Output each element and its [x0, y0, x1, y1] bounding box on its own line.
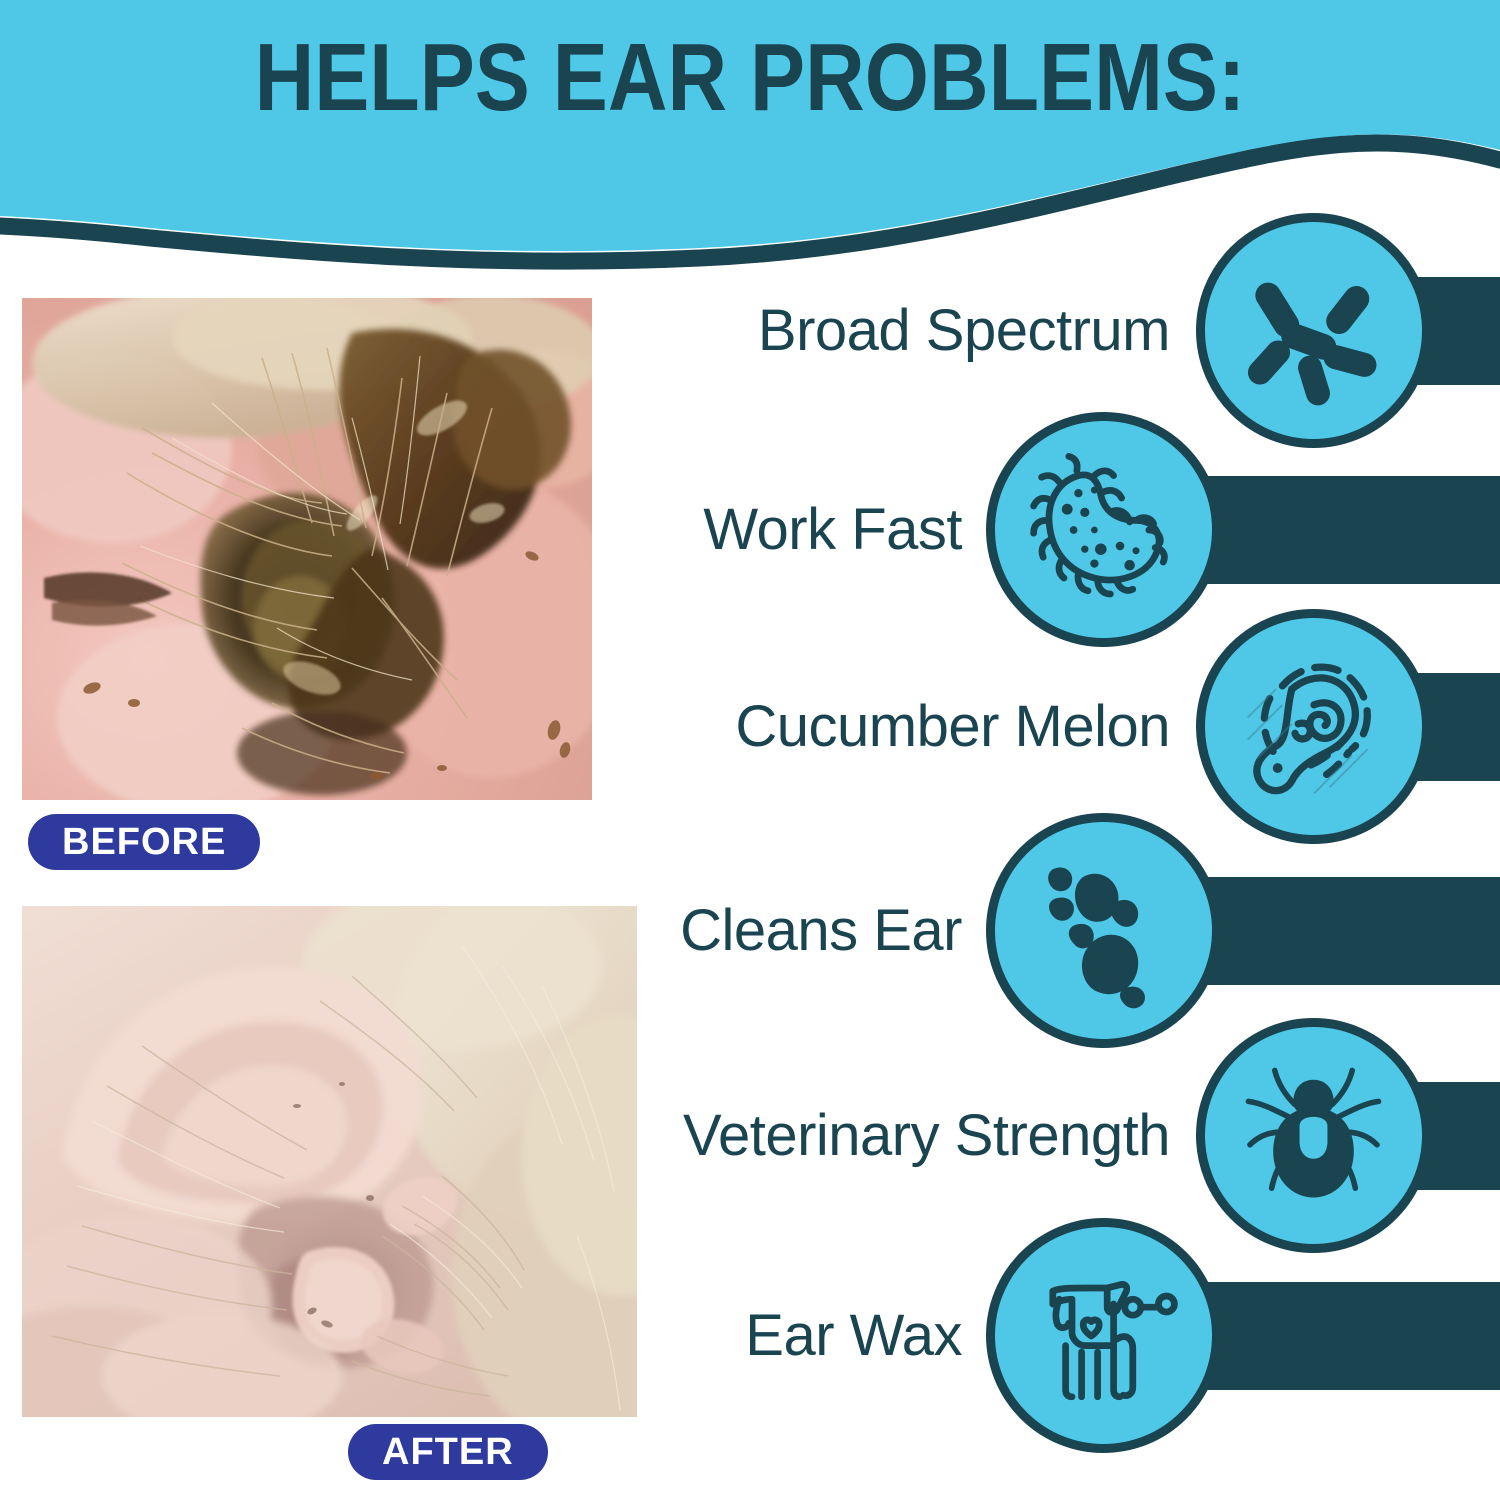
feature-label: Ear Wax — [745, 1302, 962, 1369]
dog-ear-icon — [1235, 648, 1393, 806]
feature-label: Broad Spectrum — [758, 297, 1170, 364]
ear-debris-icon — [1021, 848, 1186, 1013]
feature-row-cucumber-melon[interactable]: Cucumber Melon — [0, 609, 1500, 844]
after-badge: AFTER — [348, 1424, 548, 1480]
feature-icon-circle — [986, 412, 1221, 647]
before-badge: BEFORE — [28, 814, 260, 870]
feature-icon-circle — [1196, 609, 1431, 844]
feature-icon-circle — [1196, 1018, 1431, 1253]
feature-label: Work Fast — [703, 496, 962, 563]
header-banner: HELPS EAR PROBLEMS: — [0, 0, 1500, 270]
page-title: HELPS EAR PROBLEMS: — [105, 30, 1395, 126]
feature-icon-circle — [986, 813, 1221, 1048]
feature-icon-circle — [986, 1218, 1221, 1453]
tick-mite-icon — [1236, 1058, 1391, 1213]
feature-row-ear-wax[interactable]: Ear Wax — [0, 1218, 1500, 1453]
bacteria-rods-icon — [1239, 256, 1389, 406]
feature-label: Veterinary Strength — [683, 1102, 1170, 1169]
dog-leash-icon — [1024, 1256, 1184, 1416]
feature-label: Cucumber Melon — [735, 693, 1170, 760]
microbe-icon — [1024, 450, 1184, 610]
feature-label: Cleans Ear — [680, 897, 962, 964]
